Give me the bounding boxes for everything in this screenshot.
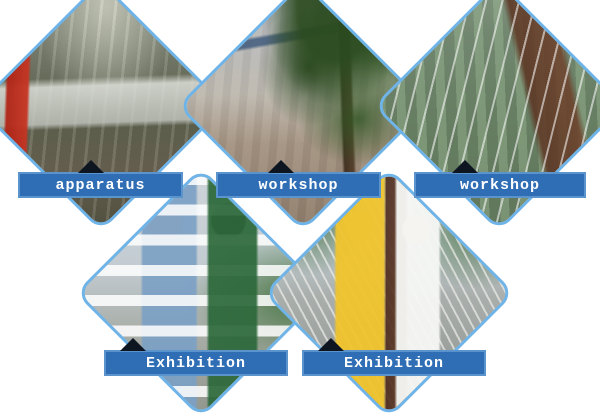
plaque-notch-workshop-yard bbox=[268, 160, 294, 173]
exhibition-visitors-photo-2 bbox=[263, 167, 515, 419]
plaque-workshop-yard[interactable]: workshop bbox=[216, 172, 381, 198]
plaque-exhibition-2[interactable]: Exhibition bbox=[302, 350, 486, 376]
gallery-tile-workshop-yard[interactable] bbox=[214, 17, 392, 195]
plaque-notch-exhibition-1 bbox=[120, 338, 146, 351]
gallery-stage: apparatus workshop workshop Exhibition bbox=[0, 0, 600, 400]
plaque-label-exhibition-2: Exhibition bbox=[344, 356, 444, 371]
plaque-label-workshop-loom: workshop bbox=[460, 178, 540, 193]
plaque-label-apparatus: apparatus bbox=[55, 178, 145, 193]
plaque-notch-apparatus bbox=[78, 160, 104, 173]
plaque-workshop-loom[interactable]: workshop bbox=[414, 172, 586, 198]
plaque-notch-exhibition-2 bbox=[318, 338, 344, 351]
gallery-tile-workshop-loom[interactable] bbox=[410, 17, 588, 195]
plaque-exhibition-1[interactable]: Exhibition bbox=[104, 350, 288, 376]
plaque-apparatus[interactable]: apparatus bbox=[18, 172, 183, 198]
plaque-notch-workshop-loom bbox=[452, 160, 478, 173]
plaque-label-exhibition-1: Exhibition bbox=[146, 356, 246, 371]
plaque-label-workshop-yard: workshop bbox=[258, 178, 338, 193]
diamond-frame bbox=[263, 167, 515, 419]
